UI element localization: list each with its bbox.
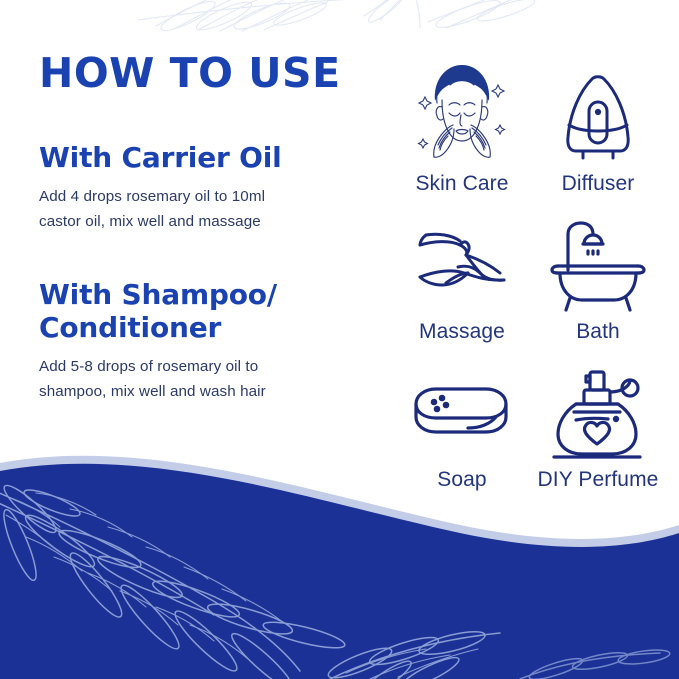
use-item-diffuser: Diffuser [530, 52, 666, 196]
use-item-massage: Massage [394, 214, 530, 344]
section-heading-carrier-oil: With Carrier Oil [39, 141, 379, 174]
bathtub-icon [542, 214, 654, 318]
bottom-wave-decoration [0, 449, 679, 679]
section-body-line: shampoo, mix well and wash hair [39, 380, 379, 405]
diffuser-icon [542, 52, 654, 170]
page-title: HOW TO USE [39, 52, 379, 95]
section-body-carrier-oil: Add 4 drops rosemary oil to 10ml castor … [39, 185, 379, 234]
use-label: Massage [419, 320, 505, 344]
infographic-page: HOW TO USE With Carrier Oil Add 4 drops … [0, 0, 679, 679]
section-body-line: Add 5-8 drops of rosemary oil to [39, 355, 379, 380]
section-heading-line: With Shampoo/ [39, 278, 379, 311]
massage-hands-icon [406, 214, 518, 318]
wave-body [0, 464, 679, 679]
section-heading-shampoo: With Shampoo/ Conditioner [39, 278, 379, 344]
use-label: Diffuser [562, 172, 635, 196]
section-body-shampoo: Add 5-8 drops of rosemary oil to shampoo… [39, 355, 379, 404]
use-item-skin-care: Skin Care [394, 52, 530, 196]
section-body-line: castor oil, mix well and massage [39, 210, 379, 235]
section-heading-line: Conditioner [39, 311, 379, 344]
use-label: Skin Care [415, 172, 508, 196]
use-item-bath: Bath [530, 214, 666, 344]
instructions-column: HOW TO USE With Carrier Oil Add 4 drops … [39, 52, 379, 405]
top-rosemary-sprig-decoration [128, 0, 558, 44]
use-label: Bath [576, 320, 620, 344]
face-skincare-icon [406, 52, 518, 170]
uses-icon-grid: Skin Care [394, 52, 666, 492]
section-body-line: Add 4 drops rosemary oil to 10ml [39, 185, 379, 210]
